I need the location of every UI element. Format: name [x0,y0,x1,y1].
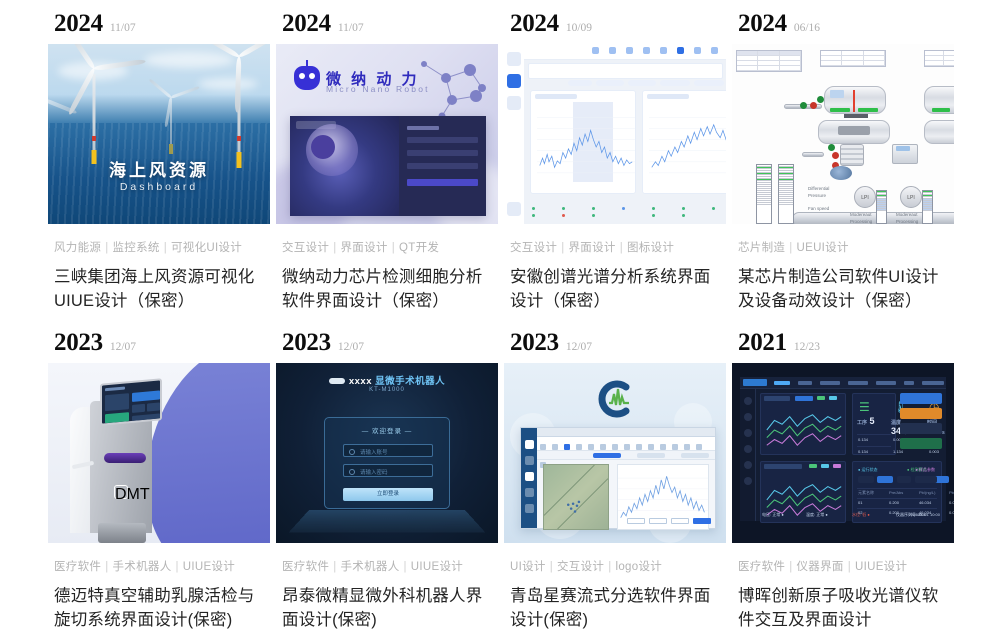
card-thumbnail[interactable] [504,363,726,543]
tag: 可视化UI设计 [171,242,242,254]
tag: 手术机器人 [113,561,172,573]
project-card[interactable]: 2023 12/07 xxxx 显微手术机器人 KT-M1000 — 欢迎登录 … [276,329,504,639]
tag-separator: | [333,561,336,573]
tag-separator: | [550,561,553,573]
tag: 医疗软件 [282,561,329,573]
window-toolbar[interactable] [537,437,715,451]
device-logo: DMT [114,485,128,499]
card-tags: 交互设计|界面设计|QT开发 [276,239,504,255]
login-screen-mockup [290,116,486,216]
card-thumbnail[interactable]: CP [504,44,726,224]
card-date: 11/07 [110,22,136,34]
chart-legend [528,205,722,221]
tag: 芯片制造 [738,242,785,254]
card-tags: 交互设计|界面设计|图标设计 [504,239,732,255]
control-button[interactable] [900,393,942,404]
tag: 交互设计 [282,242,329,254]
tag: 界面设计 [341,242,388,254]
card-date: 06/16 [794,22,820,34]
product-header: xxxx 显微手术机器人 [276,373,498,387]
card-thumbnail[interactable]: DMT [48,363,270,543]
tag-separator: | [333,242,336,254]
card-date: 11/07 [338,22,364,34]
card-header: 2024 10/09 [504,10,732,44]
tag: UIUE设计 [183,561,235,573]
tag-separator: | [848,561,851,573]
kpi-unit: s [942,430,945,436]
process-chamber [924,120,954,144]
wind-turbine-icon [238,54,240,162]
tag: UIUE设计 [855,561,907,573]
dialog-button[interactable] [671,518,689,524]
card-date: 12/07 [566,341,592,353]
card-tags: 风力能源|监控系统|可视化UI设计 [48,239,276,255]
project-card[interactable]: 2024 11/07 微 纳 动 力 [276,10,504,329]
dialog-button[interactable] [649,518,667,524]
app-logo [743,379,767,386]
card-date: 12/23 [794,341,820,353]
chart-panel [530,90,636,194]
robot-icon [294,66,320,90]
project-card[interactable]: 2024 11/07 [48,10,276,329]
card-year: 2023 [282,329,331,357]
tag: 交互设计 [557,561,604,573]
card-title[interactable]: 青岛星赛流式分选软件界面设计(保密) [504,585,732,633]
trend-chart [763,406,845,454]
wind-turbine-icon [170,96,172,150]
wind-turbine-icon [93,66,95,156]
thumbnail-overlay-title: 海上风资源 [48,156,270,181]
tag-separator: | [789,242,792,254]
card-title[interactable]: 昂泰微精显微外科机器人界面设计(保密) [276,585,504,633]
project-card[interactable]: 2024 10/09 CP [504,10,732,329]
card-date: 12/07 [338,341,364,353]
thumbnail-overlay-subtitle: Dashboard [48,181,270,193]
password-placeholder: 请输入密码 [360,468,388,476]
robot-arm-icon [329,378,345,384]
pump-icon [830,166,852,180]
tag: 监控系统 [113,242,160,254]
kpi-panel: ☰ 🌡 ◷ 工序 5 温度 34℃ 时间 120s 0.134 0.007 -0… [852,393,896,455]
card-tags: UI设计|交互设计|logo设计 [504,558,732,574]
valve-indicator [832,152,839,159]
tag-separator: | [404,561,407,573]
card-header: 2023 12/07 [504,329,732,363]
username-placeholder: 请输入账号 [360,448,388,456]
app-sidebar[interactable] [504,44,524,224]
tag: 界面设计 [569,242,616,254]
tab[interactable] [681,453,709,458]
tag: logo设计 [616,561,663,573]
pipe [802,152,824,157]
app-sidebar[interactable] [740,389,756,521]
tag: 图标设计 [627,242,674,254]
card-tags: 医疗软件|手术机器人|UIUE设计 [276,558,504,574]
level-indicator [756,164,772,224]
tag: 医疗软件 [738,561,785,573]
tab-active[interactable] [593,453,621,458]
spectrum-line-chart [537,107,635,187]
card-year: 2023 [510,329,559,357]
card-header: 2024 11/07 [276,10,504,44]
tag: 手术机器人 [341,561,400,573]
chart-panel [760,393,846,455]
tag-separator: | [176,561,179,573]
dialog-primary-button[interactable] [693,518,711,524]
tag-separator: | [105,242,108,254]
tag: 交互设计 [510,242,557,254]
device-cartridge-slot [104,453,146,463]
login-panel: — 欢迎登录 — 请输入账号 请输入密码 立即登录 [324,417,450,509]
fan-gauge: LPI [854,186,876,208]
card-header: 2023 12/07 [276,329,504,363]
card-tags: 医疗软件|手术机器人|UIUE设计 [48,558,276,574]
control-button[interactable] [900,438,942,449]
tag-separator: | [789,561,792,573]
card-thumbnail[interactable]: ☰ 🌡 ◷ 工序 5 温度 34℃ 时间 120s 0.134 0.007 -0… [732,363,954,543]
card-thumbnail[interactable]: LPI LPI DifferentialPressure Fan speed M… [732,44,954,224]
tag-separator: | [608,561,611,573]
parameter-table [924,50,954,67]
card-date: 10/09 [566,22,592,34]
chart-panel [642,90,726,194]
card-header: 2023 12/07 [48,329,276,363]
card-tags: 芯片制造|UEUI设计 [732,239,960,255]
app-logo-icon [593,377,637,421]
level-indicator [778,164,794,224]
project-card[interactable]: 2023 12/07 DMT 医疗软件|手术机器人|UIUE设计 [48,329,276,639]
tag: QT开发 [399,242,439,254]
card-year: 2021 [738,329,787,357]
valve-indicator [810,102,817,109]
device-touchscreen [100,378,162,425]
cell-illustration [306,124,358,176]
card-year: 2023 [54,329,103,357]
card-title[interactable]: 某芯片制造公司软件UI设计及设备动效设计（保密） [732,266,960,314]
card-date: 12/07 [110,341,136,353]
fan-gauge: LPI [900,186,922,208]
valve-indicator [800,102,807,109]
project-card[interactable]: 2021 12/23 [732,329,960,639]
card-year: 2024 [54,10,103,38]
decorative-floor [289,510,486,532]
card-title[interactable]: 德迈特真空辅助乳腺活检与旋切系统界面设计(保密) [48,585,276,633]
parameter-table [736,50,802,72]
card-year: 2024 [510,10,559,38]
header-prefix: xxxx [349,376,372,387]
valve-indicator [828,144,835,151]
project-card[interactable]: 2023 12/07 [504,329,732,639]
app-sidebar[interactable] [521,428,537,528]
user-icon [349,449,355,455]
tag: 医疗软件 [54,561,101,573]
dialog-button[interactable] [627,518,645,524]
window-titlebar [537,428,715,437]
project-grid: 2024 11/07 [0,0,1000,639]
tag-separator: | [561,242,564,254]
card-title[interactable]: 博晖创新原子吸收光谱仪软件交互及界面设计 [732,585,960,633]
tag: UI设计 [510,561,546,573]
card-title[interactable]: 安徽创谱光谱分析系统界面设计（保密） [504,266,732,314]
tag: UIUE设计 [411,561,463,573]
card-title[interactable]: 微纳动力芯片检测细胞分析软件界面设计（保密） [276,266,504,314]
level-indicator [876,190,887,224]
card-header: 2021 12/23 [732,329,960,363]
username-field[interactable]: 请输入账号 [343,444,433,457]
valve-indicator [817,96,824,103]
card-year: 2024 [282,10,331,38]
kpi-value: 5 [870,416,875,426]
list-icon: ☰ [859,400,870,414]
tag-separator: | [392,242,395,254]
tag: 风力能源 [54,242,101,254]
card-header: 2024 11/07 [48,10,276,44]
tag-separator: | [105,561,108,573]
login-button[interactable]: 立即登录 [343,488,433,501]
lock-icon [349,469,355,475]
level-indicator [922,190,933,224]
brand-name-en: Micro Nano Robot [326,84,430,94]
card-thumbnail[interactable]: 海上风资源 Dashboard [48,44,270,224]
app-menubar[interactable] [740,377,946,389]
tag: 仪器界面 [797,561,844,573]
parameter-table [820,50,886,67]
card-tags: 医疗软件|仪器界面|UIUE设计 [732,558,960,574]
kpi-label: 工序 [857,420,867,426]
password-field[interactable]: 请输入密码 [343,464,433,477]
tag-separator: | [164,242,167,254]
header-title-cn: 显微手术机器人 [375,376,445,387]
login-welcome-text: — 欢迎登录 — [325,425,449,435]
card-year: 2024 [738,10,787,38]
card-header: 2024 06/16 [732,10,960,44]
tag-separator: | [620,242,623,254]
card-thumbnail[interactable]: xxxx 显微手术机器人 KT-M1000 — 欢迎登录 — 请输入账号 请输入… [276,363,498,543]
product-model: KT-M1000 [276,387,498,393]
card-title[interactable]: 三峡集团海上风资源可视化UIUE设计（保密） [48,266,276,314]
card-thumbnail[interactable]: 微 纳 动 力 Micro Nano Robot [276,44,498,224]
sample-image-view [543,464,609,530]
tag: UEUI设计 [797,242,849,254]
control-button[interactable] [900,408,942,419]
window-tabs[interactable] [537,451,715,460]
app-window[interactable] [520,427,716,529]
metrics-strip [528,63,723,79]
control-button[interactable] [900,423,942,434]
project-card[interactable]: 2024 06/16 [732,10,960,329]
spectrum-line-chart [649,107,726,187]
tab[interactable] [637,453,665,458]
